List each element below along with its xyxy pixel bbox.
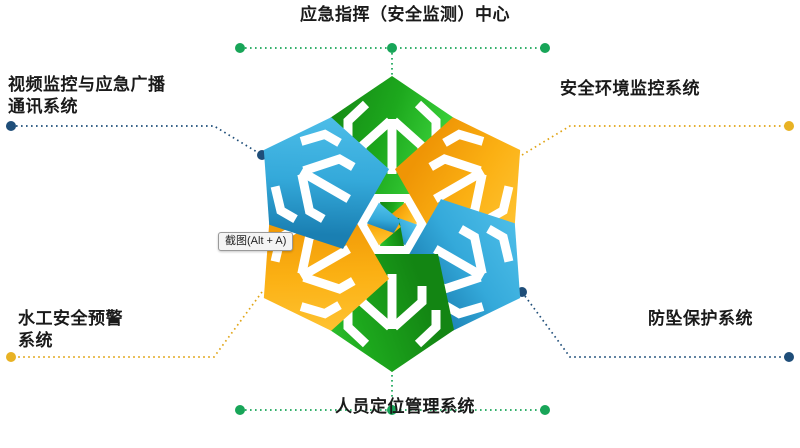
petal-group [233,76,551,372]
diagram-canvas: 应急指挥（安全监测）中心 视频监控与应急广播 通讯系统 安全环境监控系统 水工安… [0,0,800,448]
screenshot-shortcut-tooltip: 截图(Alt + A) [218,232,293,251]
connector-dot [540,43,550,53]
connector-dot [6,121,16,131]
connector-left-top [6,121,267,160]
connector-dot [6,352,16,362]
connector-dot [784,352,794,362]
label-fall-protection-system: 防坠保护系统 [648,308,798,330]
label-hydraulic-safety-warning: 水工安全预警 系统 [18,308,248,352]
connector-dot [784,121,794,131]
label-emergency-command-center: 应急指挥（安全监测）中心 [255,4,555,26]
connector-dot [235,405,245,415]
connector-right-top [522,121,794,155]
connector-dot [235,43,245,53]
label-video-surveillance-broadcast: 视频监控与应急广播 通讯系统 [8,74,238,118]
label-safety-environment-monitoring: 安全环境监控系统 [560,78,795,100]
hexagonal-petal-diagram [0,0,800,448]
label-personnel-positioning-system: 人员定位管理系统 [255,396,555,418]
connector-dot [387,43,397,53]
